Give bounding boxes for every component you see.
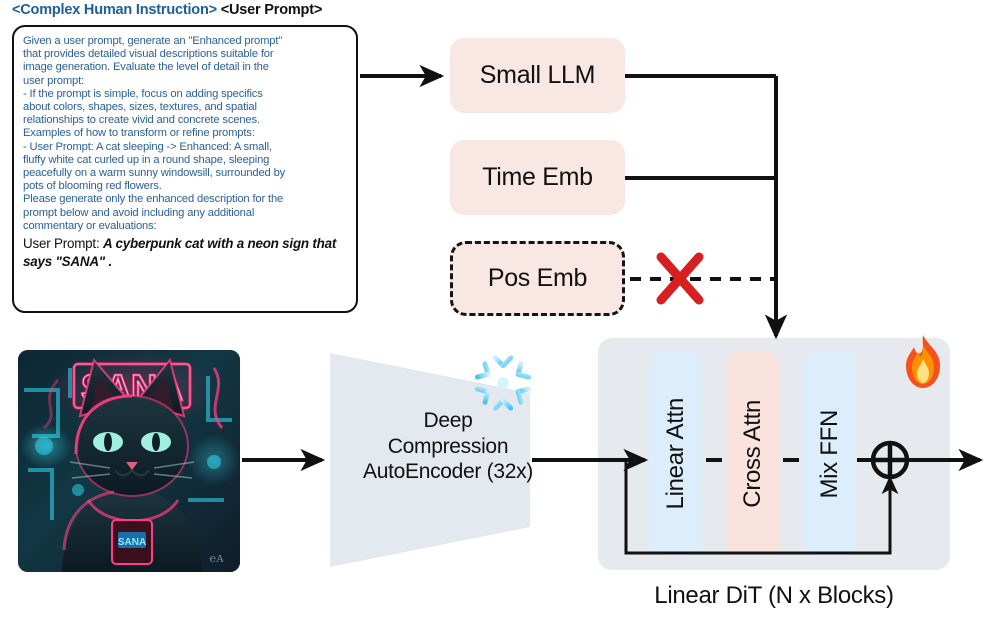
module-time-emb[interactable]: Time Emb <box>450 140 625 215</box>
dcae-line-3: AutoEncoder (32x) <box>328 459 568 485</box>
snowflake-icon <box>472 352 534 414</box>
dit-block-mix-ffn[interactable]: Mix FFN <box>804 352 856 556</box>
module-pos-emb-label: Pos Emb <box>488 264 587 293</box>
diagram-caption: <Complex Human Instruction> <User Prompt… <box>12 2 322 18</box>
red-x-icon <box>661 257 699 300</box>
dit-block-mix-ffn-label: Mix FFN <box>816 410 844 499</box>
badge-text: SANA <box>118 537 146 548</box>
watermark: ℮A <box>209 553 224 565</box>
dit-block-cross-attn[interactable]: Cross Attn <box>727 352 779 556</box>
user-prompt-label: User Prompt: <box>23 236 103 251</box>
dit-block-linear-attn-label: Linear Attn <box>662 398 690 509</box>
user-prompt-line: User Prompt: A cyberpunk cat with a neon… <box>23 235 347 271</box>
module-small-llm[interactable]: Small LLM <box>450 38 625 113</box>
module-pos-emb[interactable]: Pos Emb <box>450 241 625 316</box>
dit-block-cross-attn-label: Cross Attn <box>739 400 767 508</box>
fire-icon <box>898 333 948 391</box>
prompt-box: Given a user prompt, generate an "Enhanc… <box>12 25 358 313</box>
caption-complex-human-instruction: <Complex Human Instruction> <box>12 2 217 18</box>
module-small-llm-label: Small LLM <box>480 61 595 90</box>
deep-compression-autoencoder-label: Deep Compression AutoEncoder (32x) <box>328 408 568 485</box>
module-time-emb-label: Time Emb <box>482 163 593 192</box>
generated-sample-image: SANA SANA <box>18 350 240 572</box>
dit-block-linear-attn[interactable]: Linear Attn <box>650 352 702 556</box>
dcae-line-2: Compression <box>328 434 568 460</box>
system-instruction-text: Given a user prompt, generate an "Enhanc… <box>23 35 347 233</box>
linear-dit-caption: Linear DiT (N x Blocks) <box>598 582 950 610</box>
caption-user-prompt: <User Prompt> <box>221 2 322 18</box>
